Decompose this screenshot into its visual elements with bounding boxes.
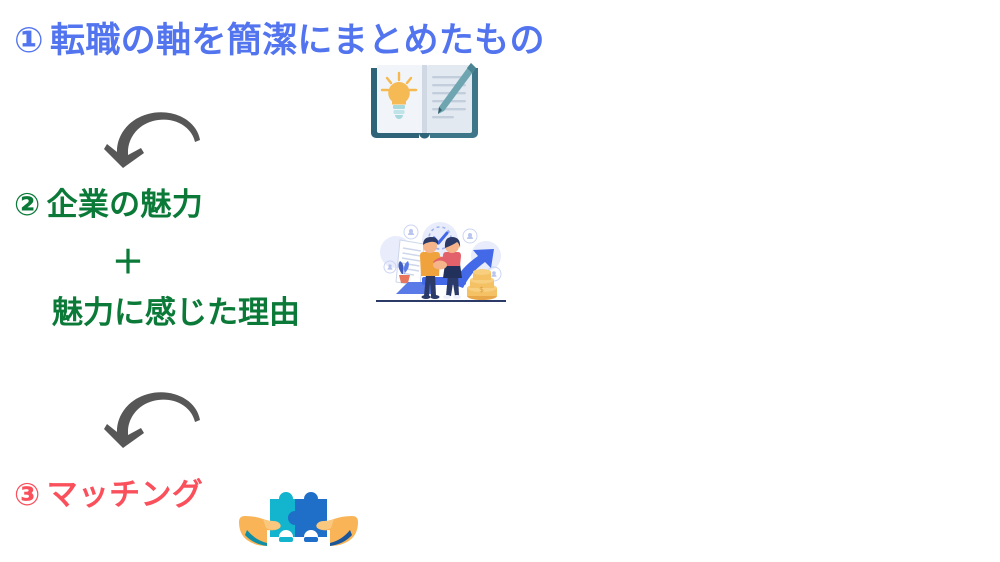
step-1-number: ① bbox=[14, 22, 44, 61]
step-2-label: 企業の魅力 bbox=[47, 188, 204, 222]
step-3-label: マッチング bbox=[47, 478, 204, 512]
business-handshake-icon: $ bbox=[374, 222, 508, 308]
arrow-2 bbox=[96, 388, 206, 464]
open-book-lightbulb-icon bbox=[368, 63, 481, 145]
step-2-plus-operator: ＋ bbox=[112, 246, 144, 278]
step-1-heading: ①転職の軸を簡潔にまとめたもの bbox=[14, 22, 545, 61]
curved-down-arrow-icon bbox=[96, 108, 206, 180]
svg-text:$: $ bbox=[479, 285, 484, 294]
step-3-heading: ③マッチング bbox=[14, 478, 203, 512]
step-2-heading: ②企業の魅力 bbox=[14, 188, 203, 222]
step-3-number: ③ bbox=[14, 478, 41, 512]
step-2-sub-label: 魅力に感じた理由 bbox=[52, 296, 300, 330]
slide-canvas: ①転職の軸を簡潔にまとめたもの bbox=[0, 0, 1000, 562]
step-2-number: ② bbox=[14, 188, 41, 222]
puzzle-hands-icon bbox=[237, 482, 360, 558]
arrow-1 bbox=[96, 108, 206, 184]
step-1-label: 転職の軸を簡潔にまとめたもの bbox=[50, 22, 545, 61]
curved-down-arrow-icon bbox=[96, 388, 206, 460]
